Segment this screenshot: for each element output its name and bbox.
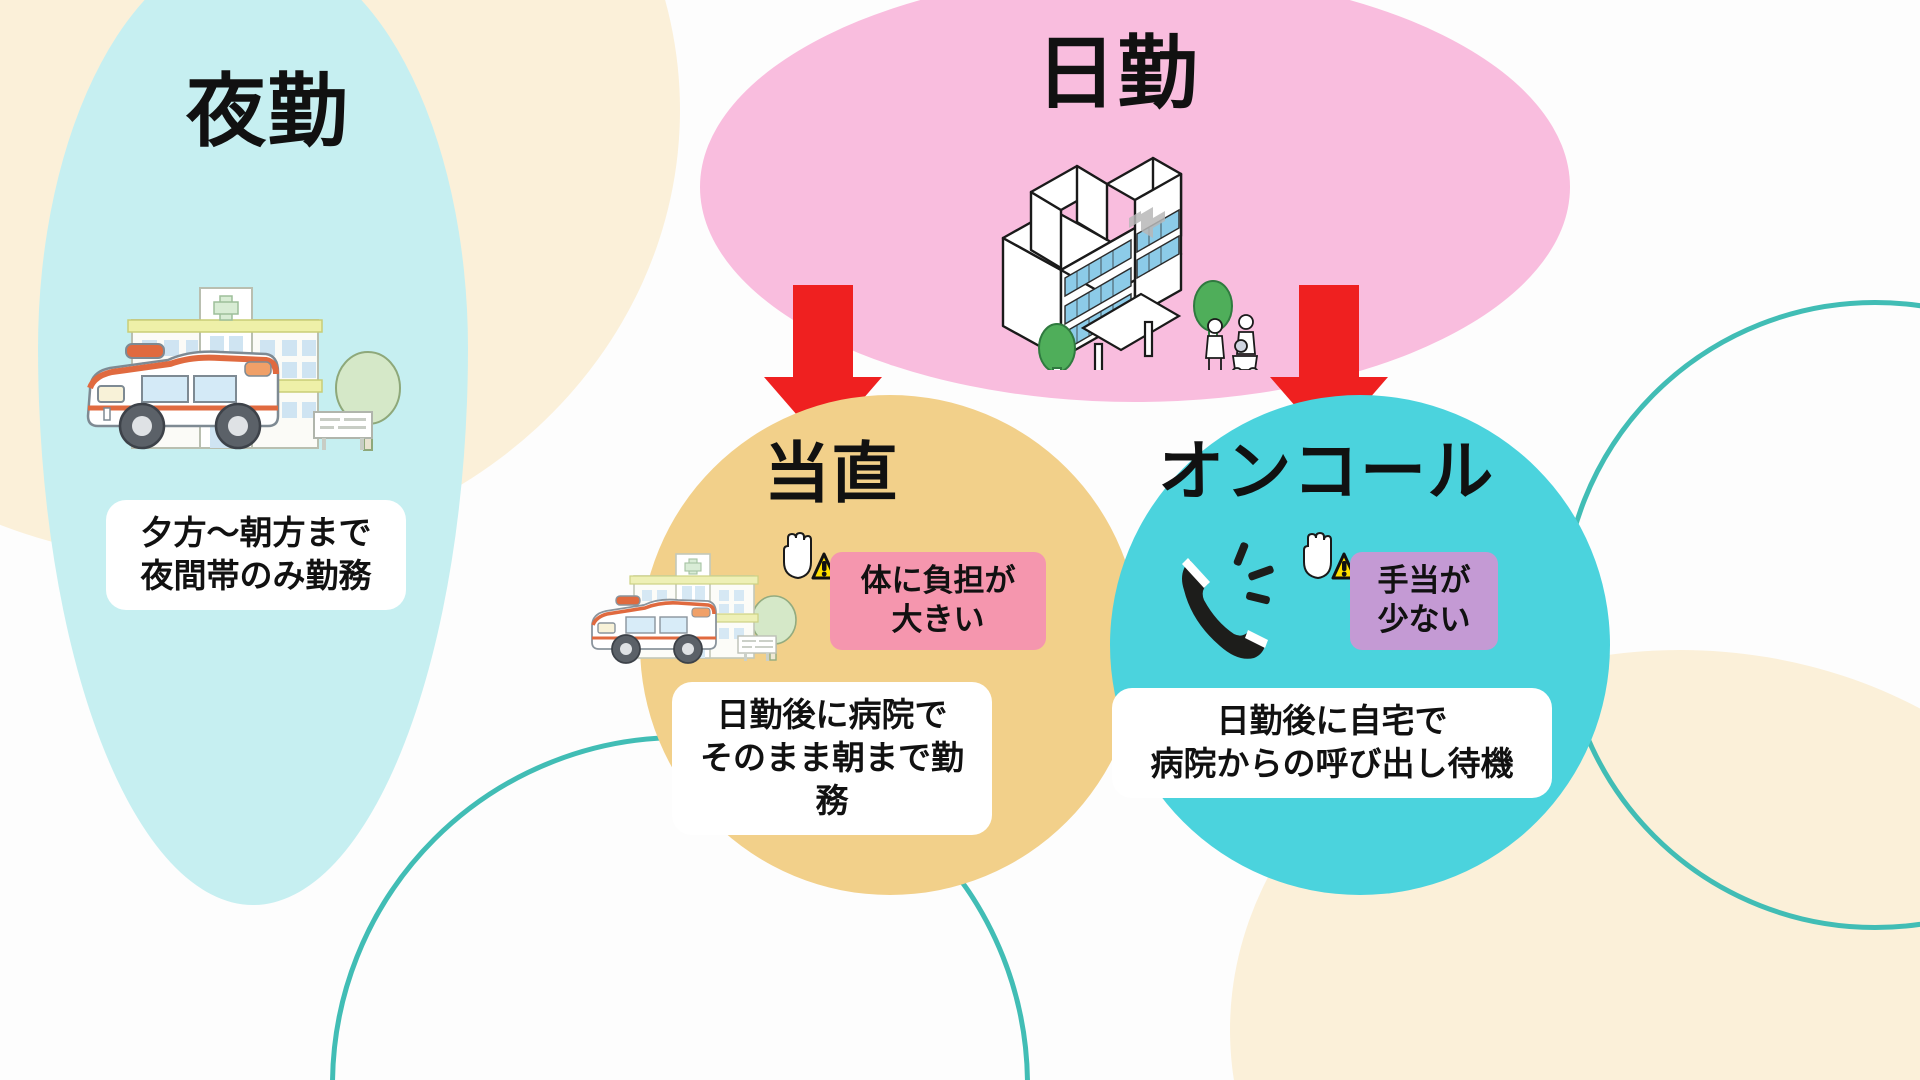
section-heading-oncall: オンコール: [1158, 438, 1495, 504]
warning-hand-icon: [778, 528, 836, 584]
section-heading-nikkin: 日勤: [1036, 34, 1199, 114]
caption-yakin: 夕方〜朝方まで 夜間帯のみ勤務: [106, 500, 406, 610]
warning-badge-oncall: 手当が 少ない: [1350, 552, 1498, 650]
warning-hand-icon-oncall: [1298, 528, 1356, 584]
infographic-canvas: 夜勤 夕方〜朝方まで 夜間帯のみ勤務: [0, 0, 1920, 1080]
hospital-ambulance-illustration-small: [588, 530, 808, 670]
warning-badge-tochoku: 体に負担が 大きい: [830, 552, 1046, 650]
caption-oncall: 日勤後に自宅で 病院からの呼び出し待機: [1112, 688, 1552, 798]
caption-tochoku: 日勤後に病院で そのまま朝まで勤務: [672, 682, 992, 835]
hospital-ambulance-illustration: [80, 240, 410, 465]
section-heading-tochoku: 当直: [764, 440, 899, 506]
hospital-isometric-illustration: [965, 130, 1265, 370]
section-heading-yakin: 夜勤: [186, 72, 349, 152]
ringing-phone-icon: [1162, 538, 1292, 670]
